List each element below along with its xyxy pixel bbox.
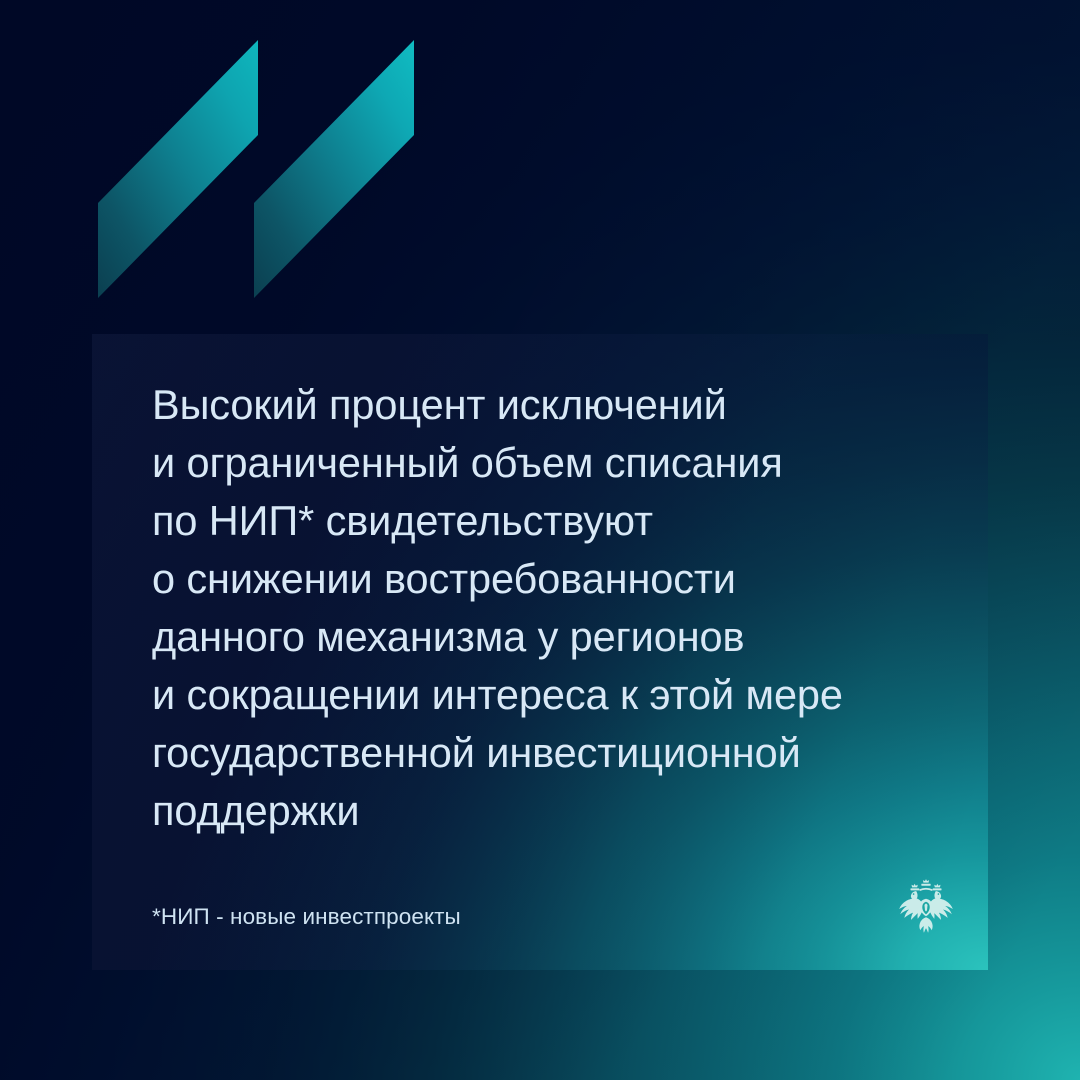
logo-slash-left bbox=[98, 40, 258, 298]
poster-canvas: Высокий процент исключений и ограниченны… bbox=[0, 0, 1080, 1080]
brand-logo bbox=[98, 36, 424, 304]
content-panel: Высокий процент исключений и ограниченны… bbox=[92, 334, 988, 970]
headline-line-4: о снижении востребованности bbox=[152, 550, 962, 608]
headline-line-8: поддержки bbox=[152, 782, 962, 840]
headline-line-7: государственной инвестиционной bbox=[152, 724, 962, 782]
headline-line-5: данного механизма у регионов bbox=[152, 608, 962, 666]
headline-line-3: по НИП* свидетельствуют bbox=[152, 492, 962, 550]
headline-line-2: и ограниченный объем списания bbox=[152, 434, 962, 492]
headline-text: Высокий процент исключений и ограниченны… bbox=[152, 376, 962, 840]
headline-line-1: Высокий процент исключений bbox=[152, 376, 962, 434]
logo-slash-right bbox=[254, 40, 414, 298]
russian-double-headed-eagle-emblem bbox=[895, 877, 957, 939]
headline-line-6: и сокращении интереса к этой мере bbox=[152, 666, 962, 724]
footnote-text: *НИП - новые инвестпроекты bbox=[152, 902, 461, 932]
